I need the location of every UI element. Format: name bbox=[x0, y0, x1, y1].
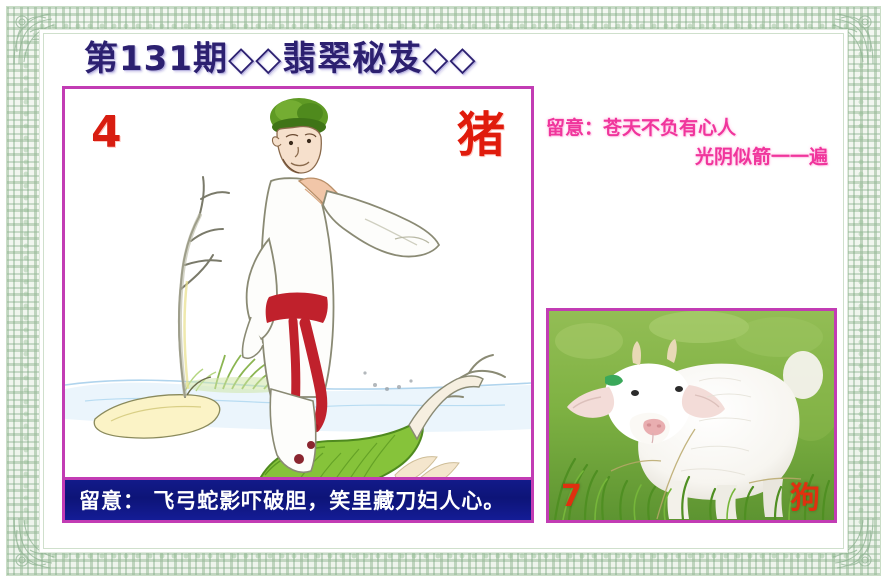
main-zodiac-label: 猪 bbox=[457, 111, 505, 159]
border-scallop-top bbox=[36, 20, 851, 32]
main-number-label: 4 bbox=[91, 111, 122, 155]
poster-content: 第131期◇◇翡翠秘芨◇◇ bbox=[46, 36, 841, 546]
photo-number-label: 7 bbox=[561, 482, 582, 512]
border-scallop-bottom bbox=[36, 550, 851, 562]
side-note-line2: 光阴似箭一一遍 bbox=[546, 143, 836, 172]
main-illustration-panel[interactable]: 4 猪 bbox=[62, 86, 534, 523]
border-scallop-left bbox=[20, 36, 32, 546]
side-note: 留意：苍天不负有心人 光阴似箭一一遍 bbox=[546, 114, 836, 173]
side-note-line1: 留意：苍天不负有心人 bbox=[546, 114, 836, 143]
photo-zodiac-label: 狗 bbox=[790, 484, 820, 514]
banner-text: 留意： 飞弓蛇影吓破胆，笑里藏刀妇人心。 bbox=[65, 485, 505, 515]
bottom-banner: 留意： 飞弓蛇影吓破胆，笑里藏刀妇人心。 bbox=[62, 477, 534, 523]
page-title: 第131期◇◇翡翠秘芨◇◇ bbox=[84, 42, 477, 76]
photo-panel[interactable]: 7 狗 bbox=[546, 308, 837, 523]
poster-page: 第131期◇◇翡翠秘芨◇◇ bbox=[0, 0, 887, 582]
border-scallop-right bbox=[855, 36, 867, 546]
